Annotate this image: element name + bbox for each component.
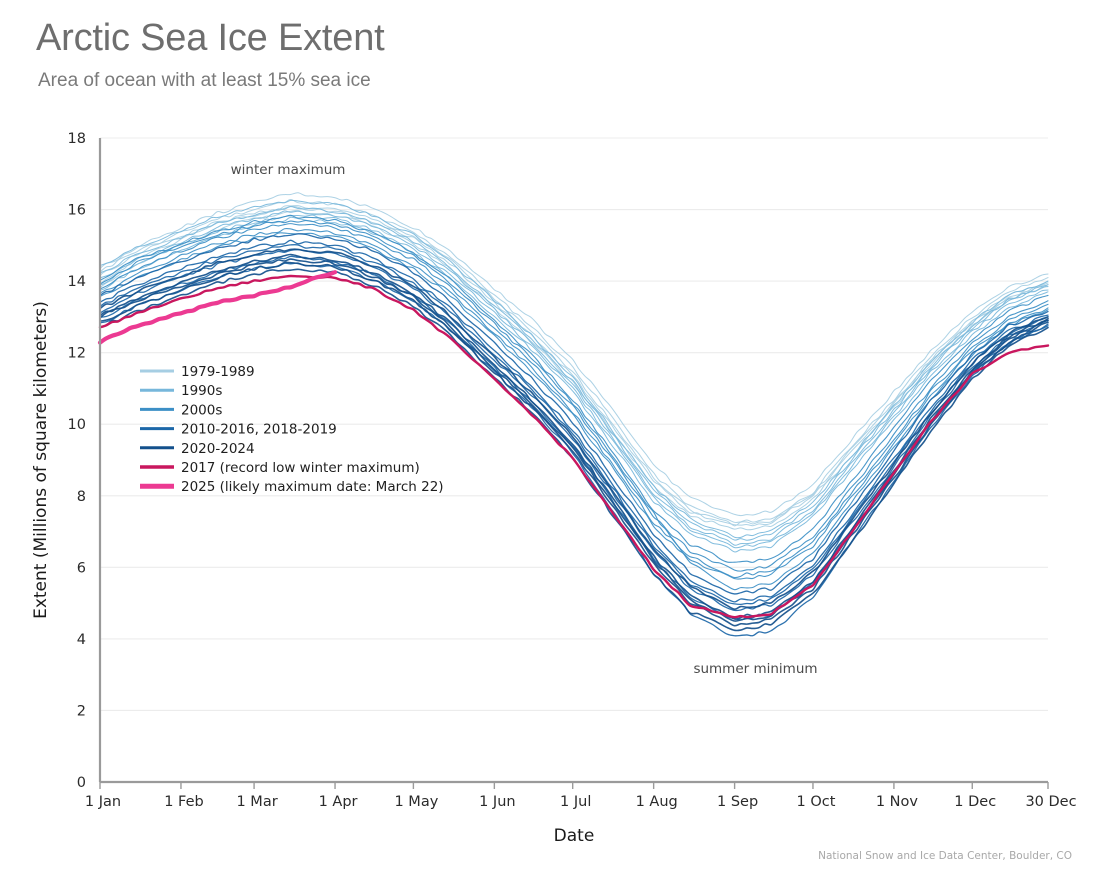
legend-label: 2010-2016, 2018-2019	[181, 422, 337, 438]
y-tick-label: 18	[68, 131, 86, 147]
y-tick-label: 0	[77, 775, 86, 791]
y-tick-label: 8	[77, 489, 86, 505]
x-tick-label: 1 Aug	[636, 794, 678, 810]
sea-ice-extent-chart: 024681012141618 1 Jan1 Feb1 Mar1 Apr1 Ma…	[0, 0, 1100, 870]
x-tick-label: 30 Dec	[1025, 794, 1076, 810]
y-tick-label: 12	[68, 346, 86, 362]
legend-label: 2017 (record low winter maximum)	[181, 460, 420, 476]
x-tick-label: 1 Nov	[876, 794, 919, 810]
y-tick-label: 4	[77, 632, 86, 648]
x-tick-label: 1 Feb	[164, 794, 204, 810]
chart-legend: 1979-19891990s2000s2010-2016, 2018-20192…	[140, 364, 444, 495]
series-line	[100, 221, 1048, 590]
y-tick-label: 6	[77, 560, 86, 576]
x-tick-label: 1 Oct	[797, 794, 836, 810]
series-line	[100, 224, 1048, 572]
legend-label: 1990s	[181, 383, 222, 399]
chart-annotation: summer minimum	[693, 661, 817, 677]
x-tick-label: 1 Jan	[85, 794, 121, 810]
legend-label: 2000s	[181, 402, 222, 418]
x-tick-labels: 1 Jan1 Feb1 Mar1 Apr1 May1 Jun1 Jul1 Aug…	[85, 782, 1077, 810]
x-tick-label: 1 Dec	[954, 794, 996, 810]
legend-label: 2020-2024	[181, 441, 255, 457]
data-curves	[100, 193, 1048, 636]
y-tick-label: 14	[68, 274, 86, 290]
x-tick-label: 1 Jul	[560, 794, 591, 810]
y-tick-label: 2	[77, 703, 86, 719]
legend-label: 2025 (likely maximum date: March 22)	[181, 479, 444, 495]
x-tick-label: 1 May	[394, 794, 438, 810]
y-axis-title: Extent (Millions of square kilometers)	[31, 301, 51, 619]
credit-line: National Snow and Ice Data Center, Bould…	[818, 850, 1072, 862]
x-axis-title: Date	[554, 826, 595, 846]
legend-label: 1979-1989	[181, 364, 255, 380]
x-tick-label: 1 Apr	[319, 794, 358, 810]
chart-svg: 024681012141618 1 Jan1 Feb1 Mar1 Apr1 Ma…	[0, 0, 1100, 870]
y-tick-label: 10	[68, 417, 86, 433]
y-tick-label: 16	[68, 203, 86, 219]
x-tick-label: 1 Mar	[236, 794, 277, 810]
y-tick-labels: 024681012141618	[68, 131, 86, 791]
x-tick-label: 1 Sep	[717, 794, 758, 810]
x-tick-label: 1 Jun	[479, 794, 516, 810]
chart-annotation: winter maximum	[231, 162, 346, 178]
